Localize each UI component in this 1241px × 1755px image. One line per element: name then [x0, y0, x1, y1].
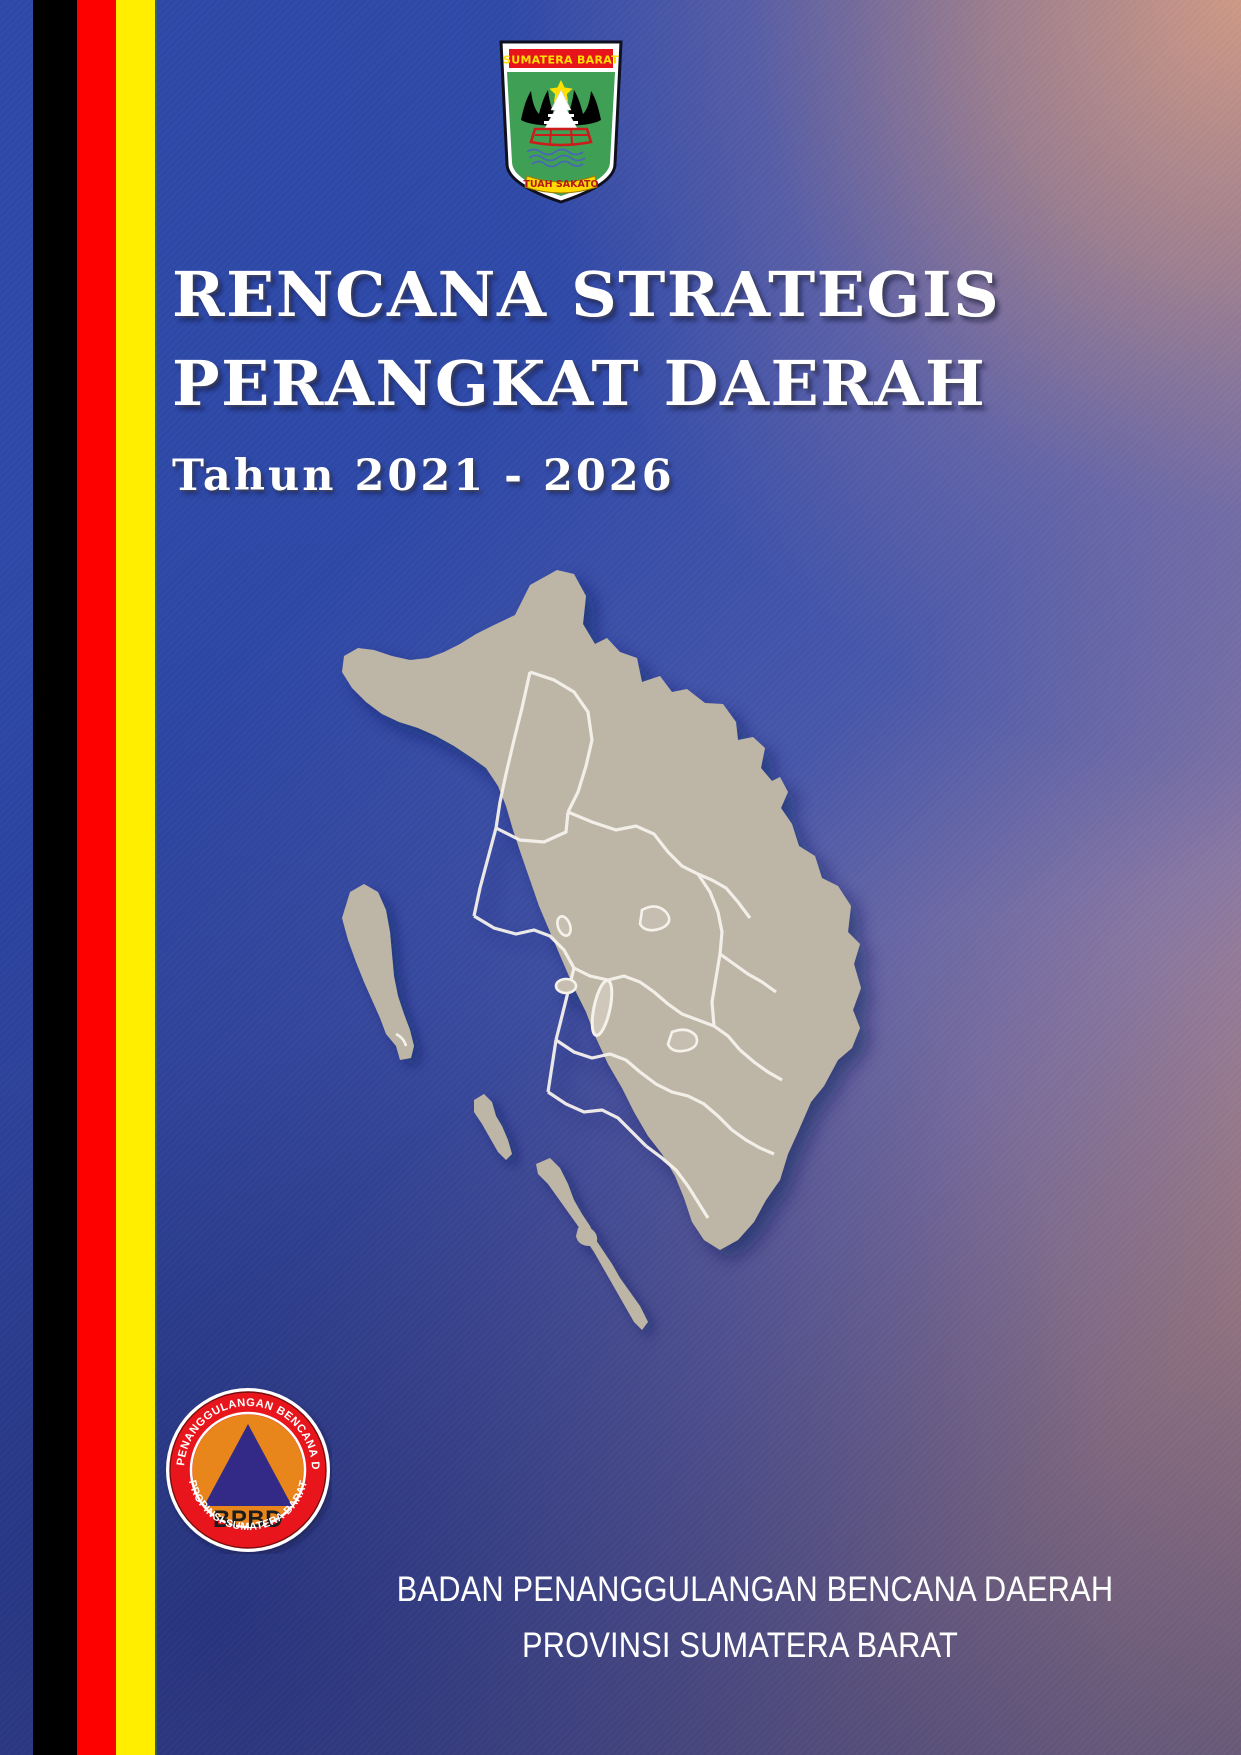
bpbd-logo: BPBD BADAN PENANGGULANGAN BENCANA DAERAH… — [164, 1386, 332, 1554]
map-lake-maninjau — [640, 906, 669, 930]
emblem-banner-top-text: SUMATERA BARAT — [503, 54, 619, 67]
footer-line-2: PROVINSI SUMATERA BARAT — [397, 1626, 1083, 1666]
map-island-siberut — [342, 884, 414, 1060]
stripe-yellow — [116, 0, 155, 1755]
map-mainland — [342, 570, 861, 1250]
footer-institution-text: BADAN PENANGGULANGAN BENCANA DAERAH PROV… — [350, 1570, 1130, 1666]
footer-line-1: BADAN PENANGGULANGAN BENCANA DAERAH — [397, 1570, 1083, 1610]
stripe-red — [77, 0, 116, 1755]
map-mainland-shape — [342, 570, 861, 1250]
map-lake-small-3 — [668, 1030, 697, 1051]
stripe-edge-line — [155, 0, 157, 1755]
map-island-sipora — [474, 1094, 512, 1160]
page-title-line-2: PERANGKAT DAERAH — [172, 339, 1090, 428]
map-island-pagai — [536, 1158, 648, 1330]
stripe-blue-margin — [0, 0, 33, 1755]
emblem-banner-bottom-text: TUAH SAKATO — [523, 179, 598, 190]
page-subtitle-years: Tahun 2021 - 2026 — [172, 451, 1072, 501]
west-sumatra-map — [268, 540, 968, 1370]
title-block: RENCANA STRATEGIS PERANGKAT DAERAH Tahun… — [172, 250, 1072, 501]
stripe-black — [33, 0, 77, 1755]
province-emblem: SUMATERA BARAT TUAH SAKATO — [487, 38, 635, 206]
document-cover-page: SUMATERA BARAT TUAH SAKATO — [0, 0, 1241, 1755]
left-stripe-band — [0, 0, 157, 1755]
page-title-line-1: RENCANA STRATEGIS — [172, 250, 1090, 339]
map-lake-small-2 — [556, 979, 576, 993]
